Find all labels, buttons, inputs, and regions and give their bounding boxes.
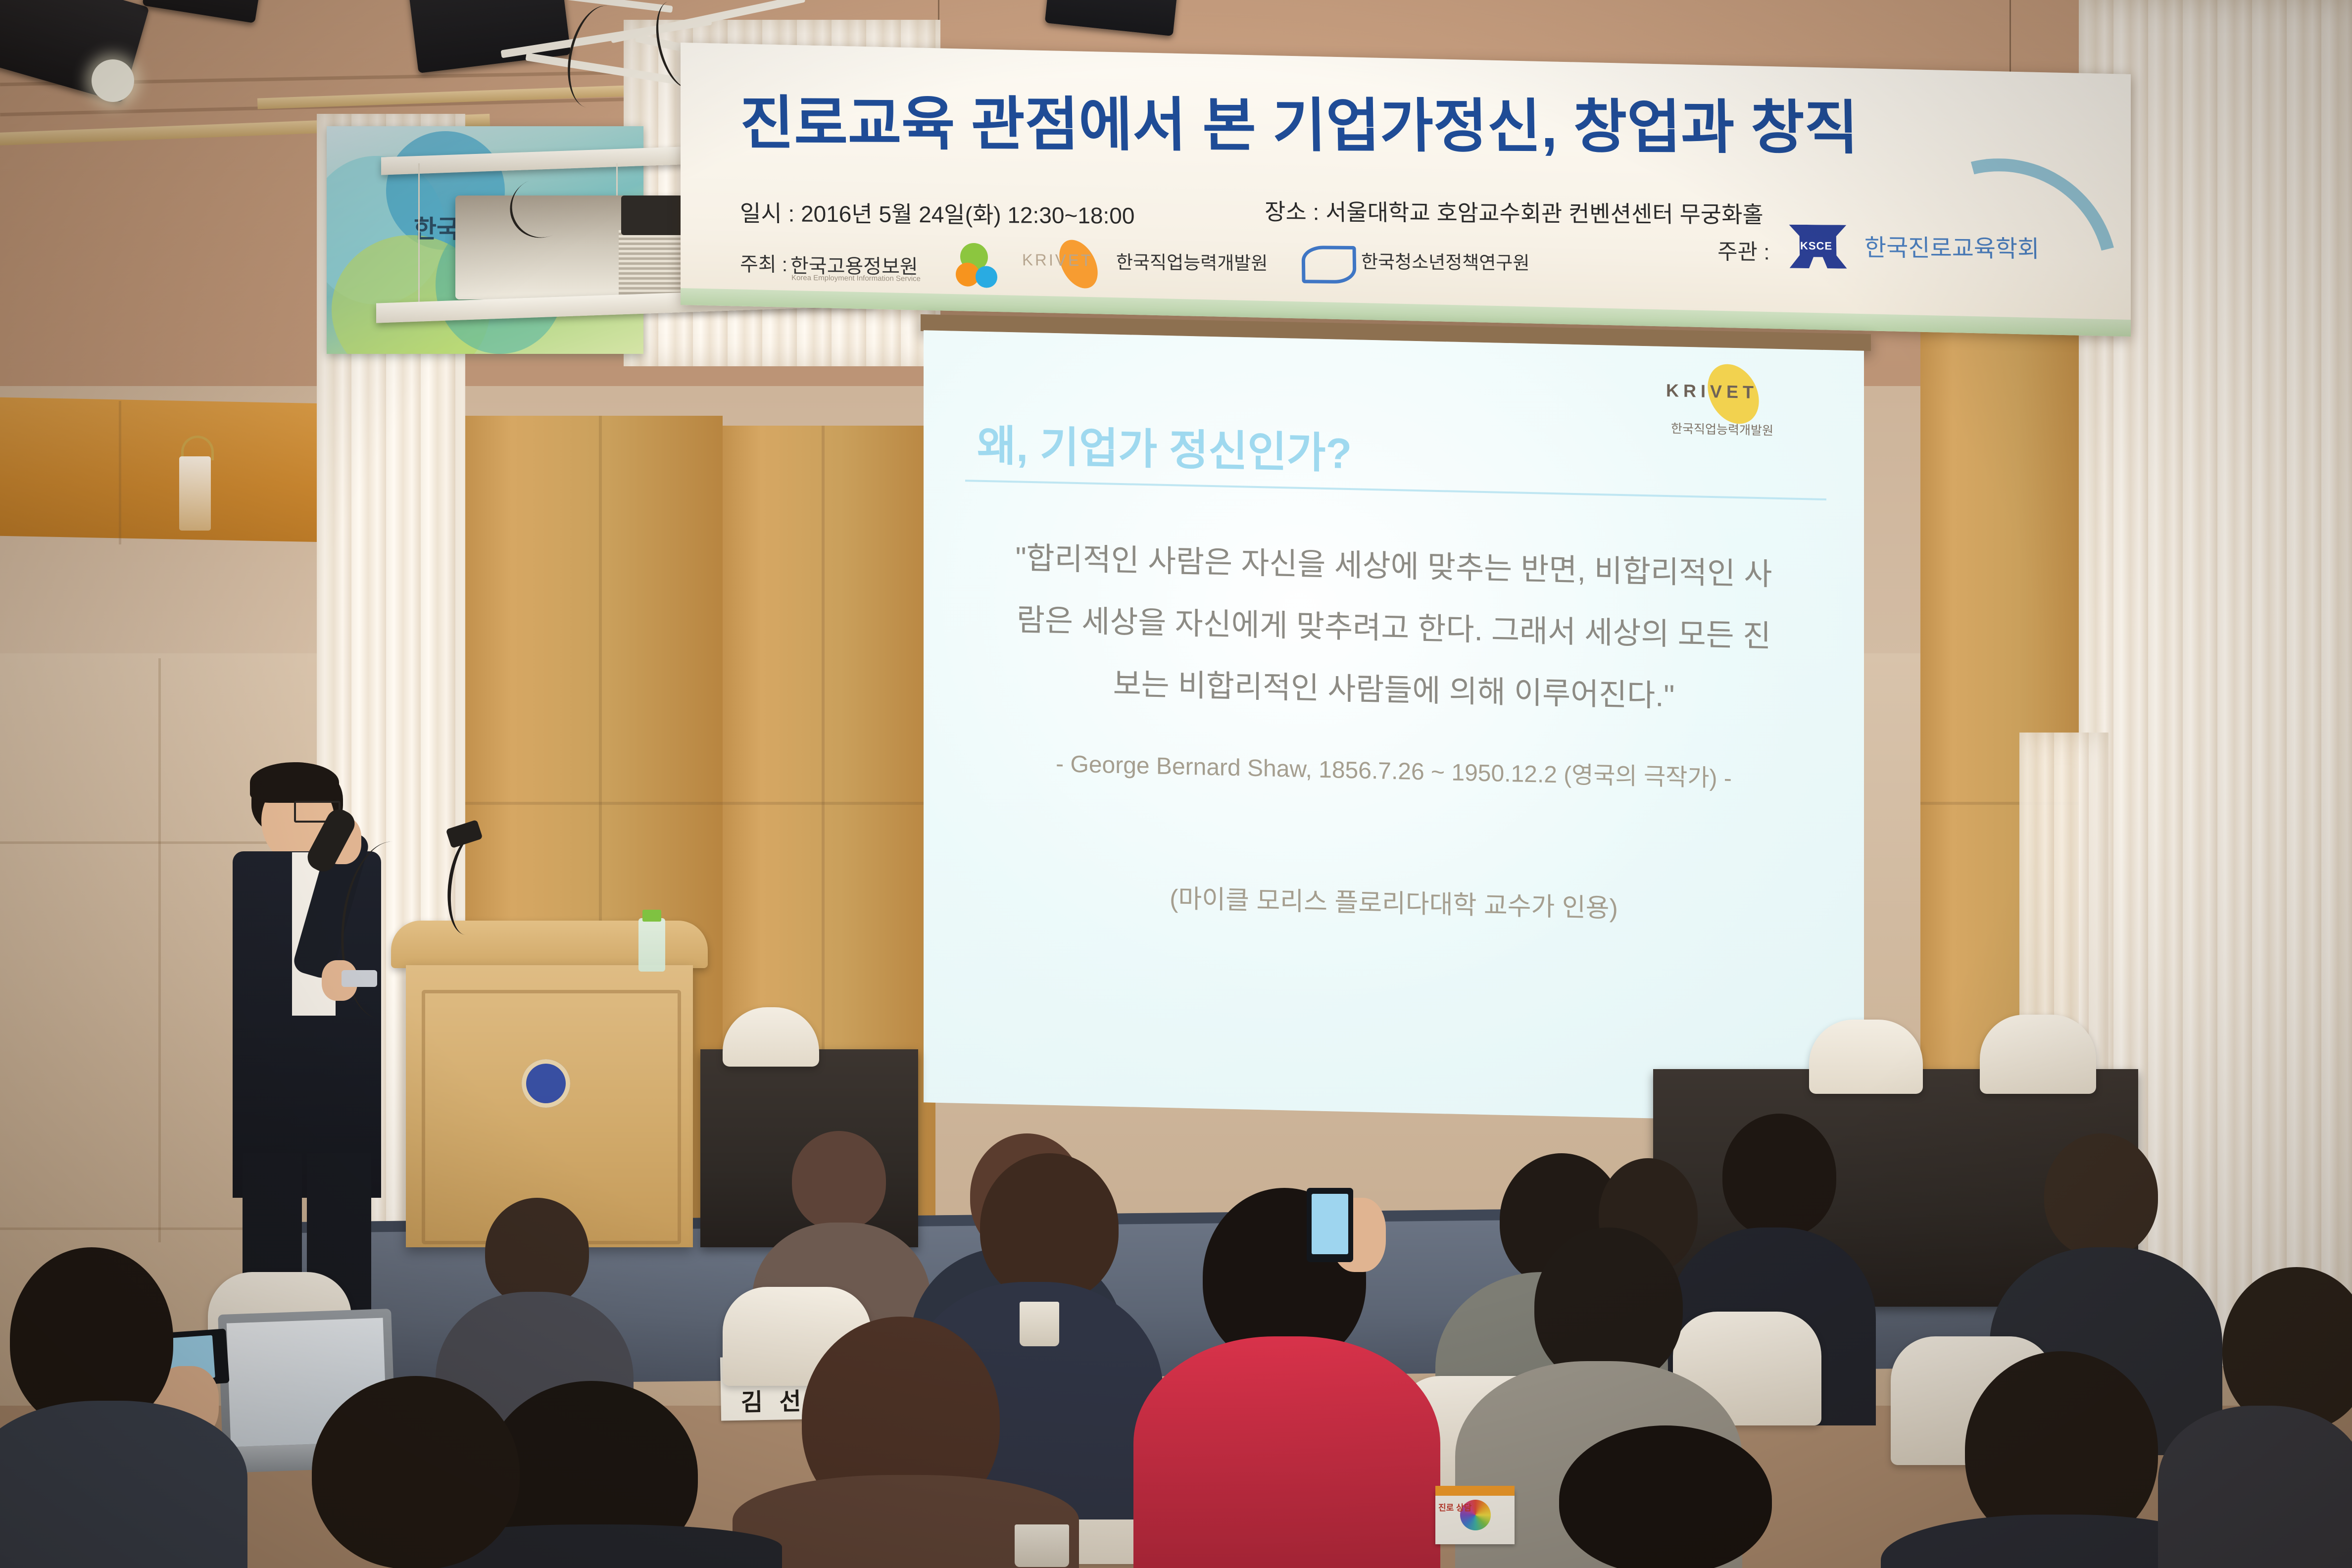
product-box-label: 진로 상담 — [1438, 1504, 1471, 1513]
audience-head — [792, 1131, 886, 1230]
water-bottle — [638, 918, 665, 972]
audience-phone-screen — [1312, 1194, 1348, 1254]
banner-title: 진로교육 관점에서 본 기업가정신, 창업과 창직 — [739, 75, 1859, 165]
audience-body — [0, 1401, 247, 1568]
projection-screen: KRIVET 한국직업능력개발원 왜, 기업가 정신인가? "합리적인 사람은 … — [924, 330, 1864, 1123]
krivet-logo: KRIVET 한국직업능력개발원 — [1651, 359, 1839, 452]
speaker-hair-top — [250, 762, 339, 803]
banner-host-org-3: 한국청소년정책연구원 — [1361, 246, 1530, 275]
audience-body — [2158, 1406, 2352, 1568]
audience-body-red-jacket — [1133, 1336, 1440, 1568]
panel-chair-back — [1980, 1015, 2096, 1094]
audience-head — [312, 1376, 520, 1568]
banner-organizer-label: 주관 : — [1717, 234, 1770, 266]
ksce-logo-text: KSCE — [1800, 240, 1832, 253]
banner-date: 일시 : 2016년 5월 24일(화) 12:30~18:00 — [740, 196, 1135, 231]
banner-host-org-2: 한국직업능력개발원 — [1116, 247, 1268, 275]
banner-host-org-1-en: Korea Employment Information Service — [791, 274, 921, 283]
product-box-lid — [1435, 1486, 1515, 1496]
nypi-logo-icon — [1301, 245, 1356, 284]
wall-seam — [158, 658, 161, 1242]
audience-head — [1722, 1114, 1836, 1237]
panel-chair-back — [1809, 1020, 1923, 1094]
banner-place: 장소 : 서울대학교 호암교수회관 컨벤션센터 무궁화홀 — [1265, 194, 1764, 230]
panel-seam — [465, 802, 935, 805]
audience-head — [2044, 1133, 2158, 1257]
spotlight-bulb — [92, 59, 134, 102]
presentation-clicker — [342, 970, 377, 987]
wall-sconce-glass — [179, 456, 211, 531]
event-banner: 진로교육 관점에서 본 기업가정신, 창업과 창직 일시 : 2016년 5월 … — [681, 43, 2131, 337]
banner-organizer-org: 한국진로교육학회 — [1864, 228, 2040, 264]
bottle-cap — [642, 910, 661, 922]
audience-head — [485, 1198, 589, 1307]
banner-host-label: 주최 : — [740, 248, 788, 277]
krivet-wordmark: KRIVET — [1666, 380, 1758, 403]
krivet-subtext: 한국직업능력개발원 — [1671, 419, 1773, 439]
projector-rod — [418, 163, 420, 307]
banner-host-org-2-mark: KRIVET — [1022, 250, 1093, 270]
snu-emblem — [522, 1059, 570, 1108]
conference-photo: 한국신 진로교육 관점에서 본 기업가정신, 창업과 창직 일시 : 2016년… — [0, 0, 2352, 1568]
paper-cup — [1015, 1524, 1069, 1567]
audience-head — [1559, 1425, 1772, 1568]
panel-seam — [119, 401, 121, 544]
audience-head — [980, 1153, 1119, 1302]
keis-logo-icon — [976, 266, 997, 288]
paper-cup — [1020, 1302, 1059, 1346]
slide-title: 왜, 기업가 정신인가? — [977, 411, 1352, 481]
